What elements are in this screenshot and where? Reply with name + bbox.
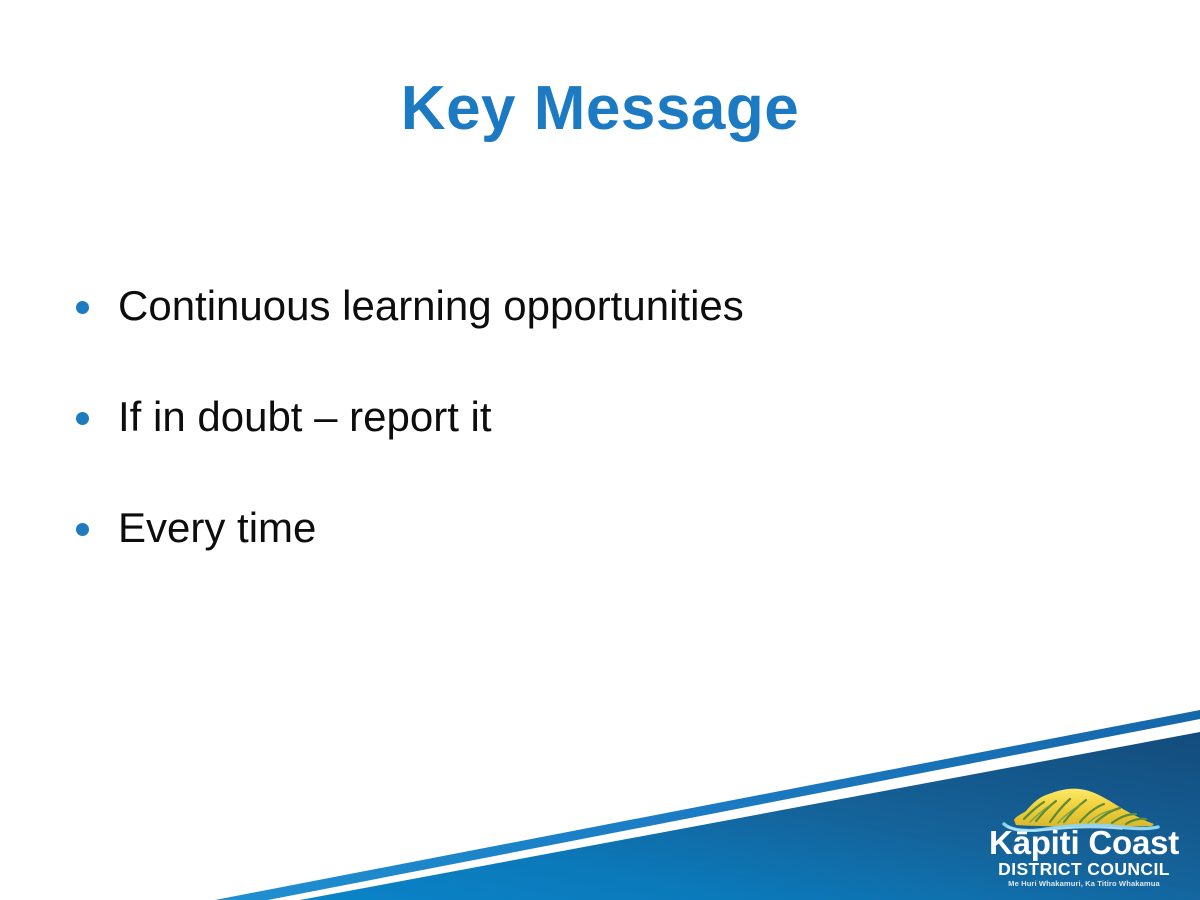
list-item-label: Every time [118, 500, 316, 556]
page-title: Key Message [0, 72, 1200, 146]
bullet-list: Continuous learning opportunities If in … [62, 278, 1062, 611]
list-item: Continuous learning opportunities [62, 278, 1062, 389]
kapiti-coast-district-council-logo: Kāpiti Coast DISTRICT COUNCIL Me Huri Wh… [978, 786, 1190, 890]
logo-subtitle: DISTRICT COUNCIL [978, 860, 1190, 878]
list-item: If in doubt – report it [62, 389, 1062, 500]
logo-tagline: Me Huri Whakamuri, Ka Titiro Whakamua [978, 879, 1190, 888]
slide-canvas: Key Message Continuous learning opportun… [0, 0, 1200, 900]
list-item-label: If in doubt – report it [118, 389, 492, 445]
list-item-label: Continuous learning opportunities [118, 278, 744, 334]
bullet-dot-icon [76, 523, 89, 536]
bullet-dot-icon [76, 412, 89, 425]
bullet-dot-icon [76, 301, 89, 314]
list-item: Every time [62, 500, 1062, 611]
logo-title: Kāpiti Coast [978, 826, 1190, 860]
